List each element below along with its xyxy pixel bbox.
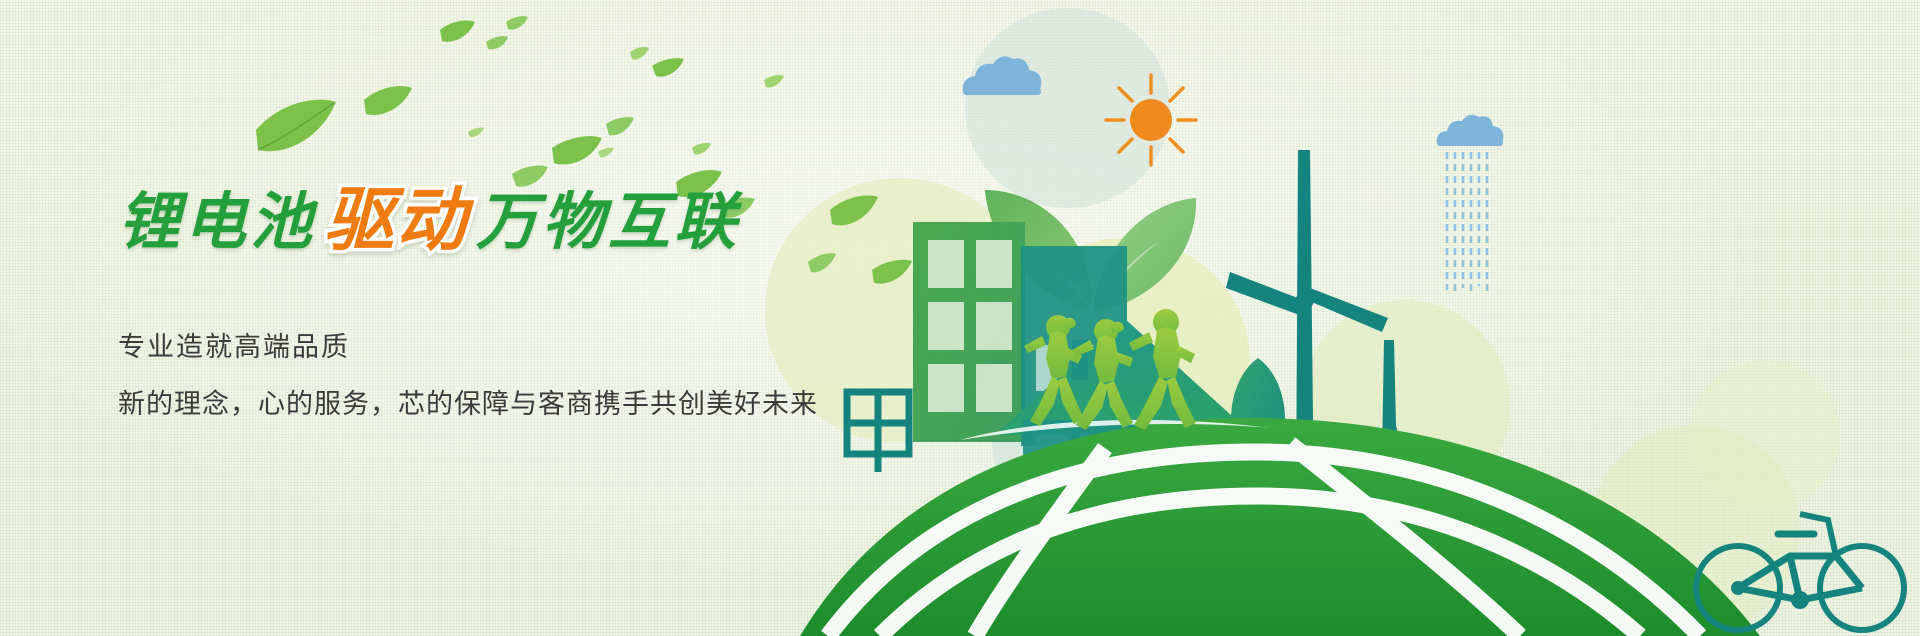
headline-highlight: 驱动 (318, 188, 474, 252)
headline-part-3: 万物互联 (476, 190, 740, 254)
subtitle-line-2: 新的理念，心的服务，芯的保障与客商携手共创美好未来 (118, 382, 818, 421)
subtitle-line-1: 专业造就高端品质 (118, 325, 350, 364)
page-title: 锂电池驱动万物互联 (118, 186, 740, 254)
eco-battery-hero-banner: 锂电池驱动万物互联 专业造就高端品质 新的理念，心的服务，芯的保障与客商携手共创… (0, 0, 1920, 636)
banner-copy: 锂电池驱动万物互联 专业造就高端品质 新的理念，心的服务，芯的保障与客商携手共创… (0, 0, 1920, 636)
headline-part-1: 锂电池 (118, 190, 316, 254)
